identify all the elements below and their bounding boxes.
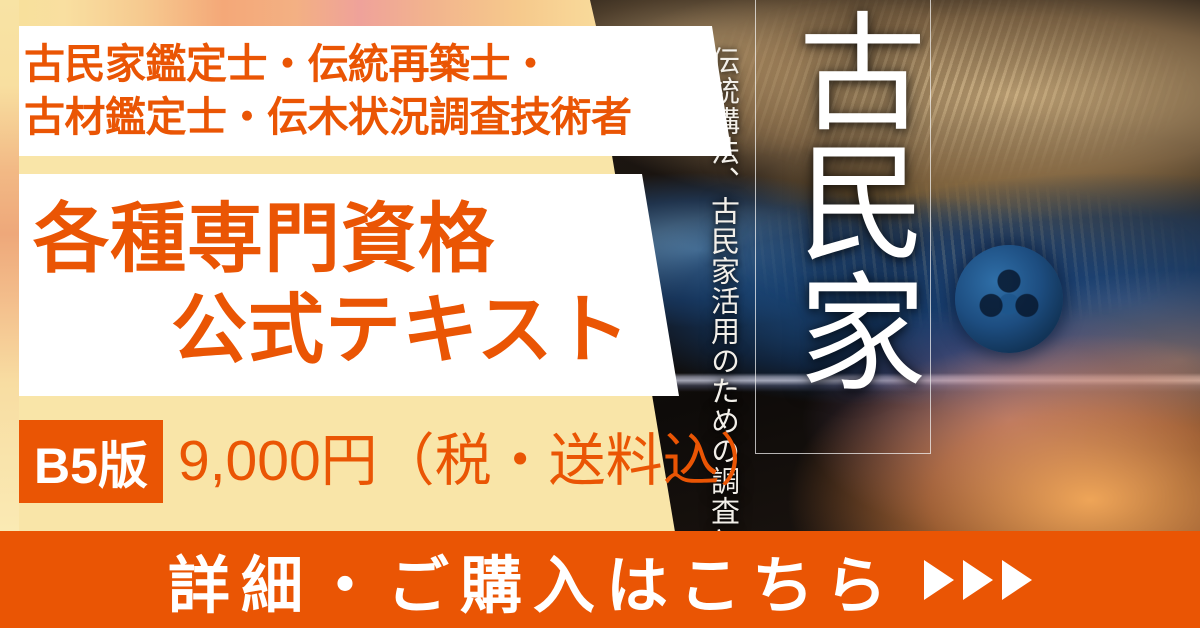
- book-cover-title: 古民家: [762, 6, 924, 456]
- crest-medallion-icon: [955, 245, 1063, 353]
- qualifications-line-1: 古民家鑑定士・伝統再築士・: [24, 38, 724, 91]
- qualifications-text: 古民家鑑定士・伝統再築士・ 古材鑑定士・伝木状況調査技術者: [24, 26, 724, 156]
- cta-arrows: [924, 560, 1032, 600]
- arrow-right-icon: [1002, 560, 1032, 600]
- headline-text: 各種専門資格 公式テキスト: [19, 174, 679, 396]
- format-badge: B5版: [19, 420, 163, 503]
- arrow-right-icon: [924, 560, 954, 600]
- qualifications-line-2: 古材鑑定士・伝木状況調査技術者: [24, 91, 724, 144]
- left-gradient-strip: [0, 0, 19, 532]
- headline-line-2: 公式テキスト: [19, 285, 679, 376]
- cta-label: 詳細・ご購入はこちら: [168, 535, 898, 625]
- price-label: 9,000円（税・送料込）: [178, 420, 777, 503]
- cta-bar[interactable]: 詳細・ご購入はこちら: [0, 531, 1200, 628]
- arrow-right-icon: [963, 560, 993, 600]
- promo-banner: 伝統構法、古民家活用のための調査と再生の 古民家 古民家鑑定士・伝統再築士・ 古…: [0, 0, 1200, 628]
- headline-line-1: 各種専門資格: [19, 194, 679, 285]
